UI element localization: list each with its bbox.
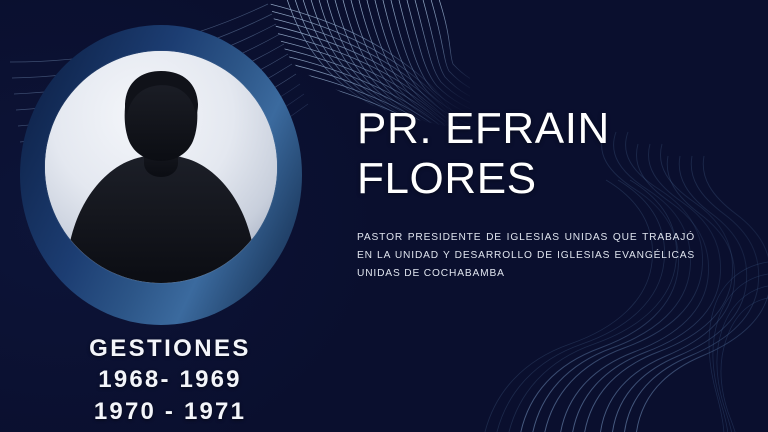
subtitle-description: PASTOR PRESIDENTE DE IGLESIAS UNIDAS QUE… xyxy=(357,229,695,282)
avatar xyxy=(20,25,302,325)
silhouette-portrait-icon xyxy=(45,51,277,283)
presentation-slide: GESTIONES 1968- 1969 1970 - 1971 PR. EFR… xyxy=(0,0,768,432)
content-column: PR. EFRAIN FLORES PASTOR PRESIDENTE DE I… xyxy=(357,104,709,282)
gestiones-period-1: 1968- 1969 xyxy=(28,364,312,396)
avatar-photo xyxy=(45,51,277,283)
gestiones-block: GESTIONES 1968- 1969 1970 - 1971 xyxy=(28,334,312,427)
gestiones-period-2: 1970 - 1971 xyxy=(28,396,312,428)
gestiones-title: GESTIONES xyxy=(28,334,312,364)
page-title: PR. EFRAIN FLORES xyxy=(357,104,709,203)
